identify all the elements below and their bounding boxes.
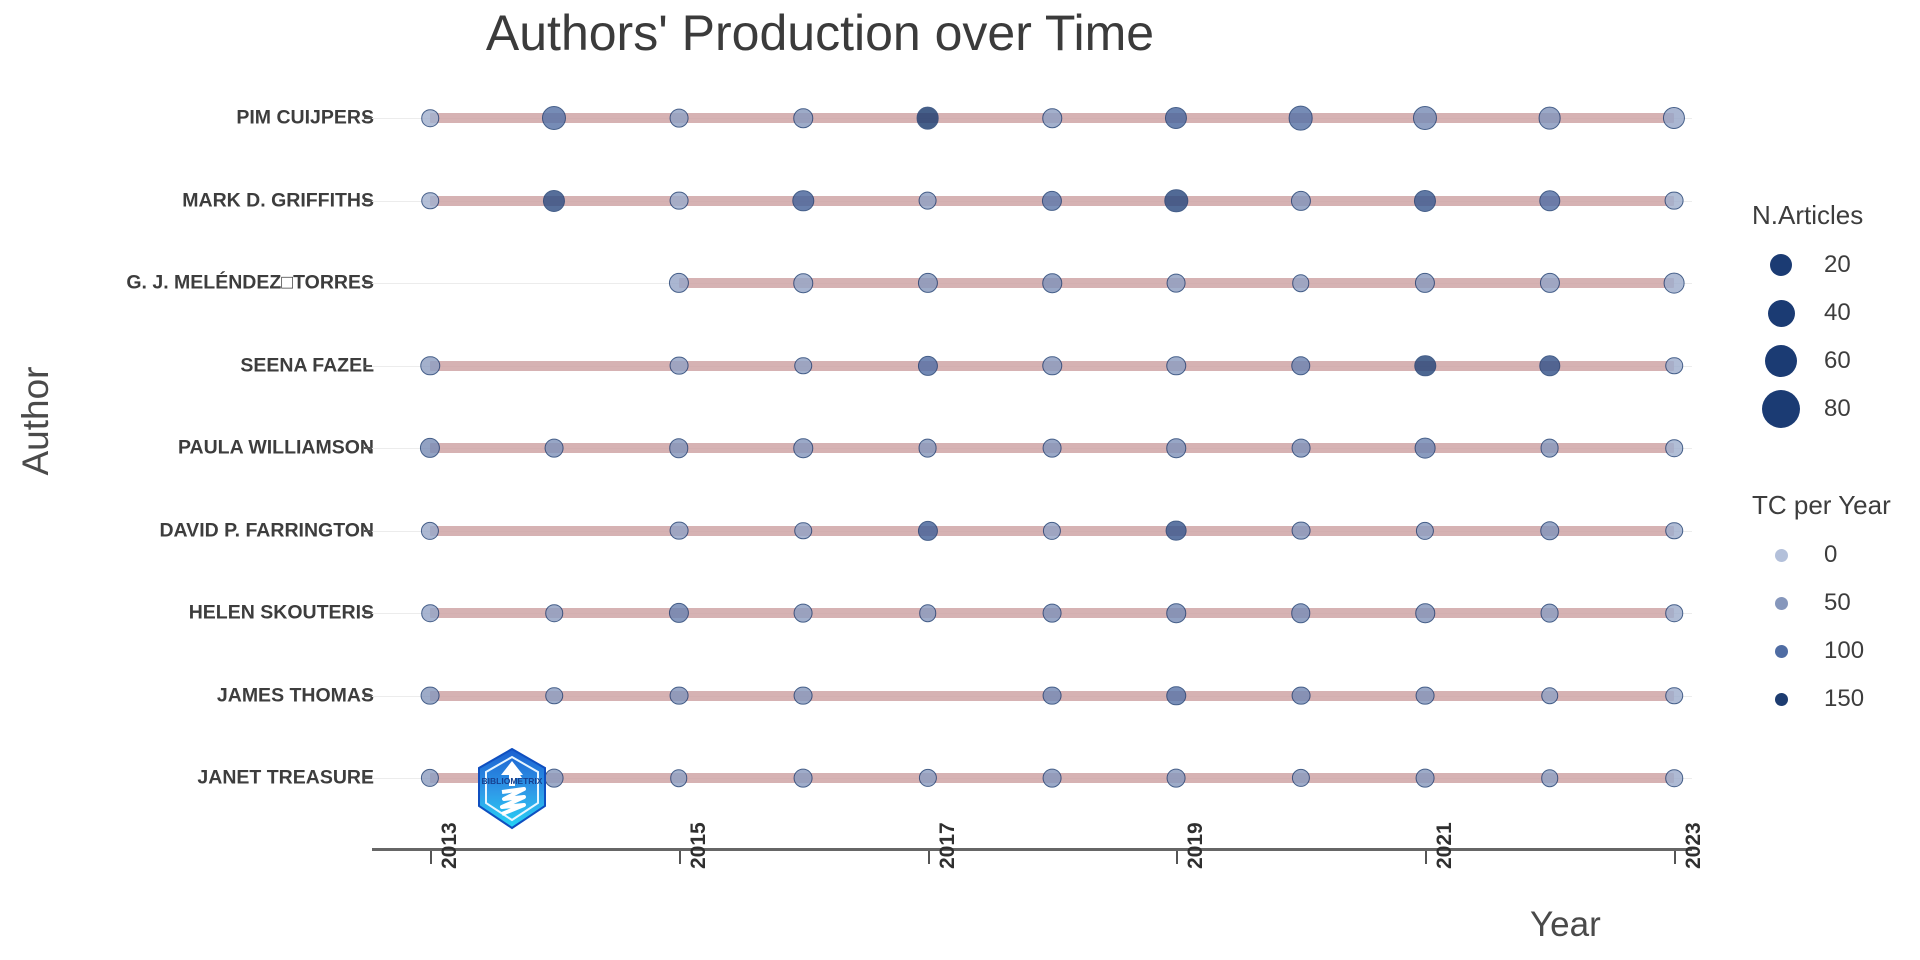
data-point[interactable] <box>1167 274 1186 293</box>
data-point[interactable] <box>1291 686 1310 705</box>
data-point[interactable] <box>1665 191 1684 210</box>
y-axis-tick-label: JAMES THOMAS <box>217 684 374 707</box>
legend-entries: 20406080 <box>1752 241 1863 433</box>
data-point[interactable] <box>1167 603 1187 623</box>
data-point[interactable] <box>669 356 688 375</box>
data-point[interactable] <box>1292 769 1310 787</box>
data-point[interactable] <box>1291 356 1311 376</box>
legend-label: 100 <box>1824 637 1864 665</box>
data-point[interactable] <box>421 109 439 127</box>
y-axis-tick-label: HELEN SKOUTERIS <box>189 602 374 625</box>
data-point[interactable] <box>1167 356 1187 376</box>
data-point[interactable] <box>1665 357 1683 375</box>
data-point[interactable] <box>793 273 813 293</box>
y-axis-tick-mark <box>364 200 372 202</box>
legend-label: 60 <box>1824 347 1851 375</box>
data-point[interactable] <box>669 273 689 293</box>
data-point[interactable] <box>421 521 439 539</box>
data-point[interactable] <box>1288 106 1313 131</box>
x-axis-tick-mark <box>430 851 432 864</box>
y-axis-tick-mark <box>364 447 372 449</box>
data-point[interactable] <box>1540 521 1560 541</box>
data-point[interactable] <box>1167 438 1187 458</box>
data-point[interactable] <box>919 769 937 787</box>
legend-dot-icon <box>1762 390 1800 428</box>
data-point[interactable] <box>1665 604 1683 622</box>
chart-root: Authors' Production over Time Author Yea… <box>0 0 1920 960</box>
legend-row[interactable]: 60 <box>1752 337 1863 385</box>
x-axis-tick-label: 2017 <box>936 822 960 869</box>
data-point[interactable] <box>1042 190 1062 210</box>
legend-swatch <box>1752 390 1810 428</box>
x-axis-tick-label: 2023 <box>1682 822 1706 869</box>
data-point[interactable] <box>669 438 689 458</box>
y-axis-tick-mark <box>364 530 372 532</box>
data-point[interactable] <box>794 357 812 375</box>
x-axis-tick-mark <box>1425 851 1427 864</box>
data-point[interactable] <box>1291 521 1310 540</box>
y-axis-tick-label: G. J. MELÉNDEZ□TORRES <box>126 272 374 295</box>
data-point[interactable] <box>1167 686 1187 706</box>
x-axis-tick-label: 2015 <box>687 822 711 869</box>
legend-row[interactable]: 150 <box>1752 675 1891 723</box>
y-axis-tick-mark <box>364 695 372 697</box>
page-title: Authors' Production over Time <box>0 4 1640 62</box>
data-point[interactable] <box>792 190 813 211</box>
data-point[interactable] <box>1664 273 1685 294</box>
data-point[interactable] <box>1541 769 1559 787</box>
legend-swatch <box>1752 254 1810 276</box>
plot-area <box>372 86 1692 826</box>
data-point[interactable] <box>1665 769 1683 787</box>
legend-dot-icon <box>1770 254 1792 276</box>
data-point[interactable] <box>543 189 565 211</box>
legend-label: 20 <box>1824 251 1851 279</box>
y-axis-title: Author <box>15 341 57 501</box>
legend-row[interactable]: 50 <box>1752 579 1891 627</box>
data-point[interactable] <box>1166 520 1187 541</box>
y-axis-tick-label: PIM CUIJPERS <box>236 107 374 130</box>
data-point[interactable] <box>421 604 439 622</box>
legend-row[interactable]: 40 <box>1752 289 1863 337</box>
data-point[interactable] <box>794 604 813 623</box>
data-point[interactable] <box>669 109 688 128</box>
data-point[interactable] <box>1415 438 1436 459</box>
legend-swatch <box>1752 549 1810 562</box>
x-axis-tick-mark <box>928 851 930 864</box>
data-point[interactable] <box>918 355 938 375</box>
data-point[interactable] <box>1413 106 1437 130</box>
legend-swatch <box>1752 300 1810 327</box>
data-point[interactable] <box>546 687 564 705</box>
data-point[interactable] <box>1415 603 1435 623</box>
legend-title: N.Articles <box>1752 200 1863 231</box>
legend-label: 150 <box>1824 685 1864 713</box>
data-point[interactable] <box>421 769 439 787</box>
data-point[interactable] <box>546 604 564 622</box>
data-point[interactable] <box>1165 189 1188 212</box>
data-point[interactable] <box>1042 356 1062 376</box>
data-point[interactable] <box>1539 355 1560 376</box>
data-point[interactable] <box>1291 603 1311 623</box>
y-axis-tick-label: SEENA FAZEL <box>240 354 374 377</box>
legend-label: 80 <box>1824 395 1851 423</box>
data-point[interactable] <box>1165 107 1187 129</box>
legend-dot-icon <box>1775 597 1788 610</box>
data-point[interactable] <box>542 106 566 130</box>
data-point[interactable] <box>1291 439 1310 458</box>
data-point[interactable] <box>1414 189 1436 211</box>
data-point[interactable] <box>1415 273 1435 293</box>
x-axis-tick-mark <box>1674 851 1676 864</box>
legend-swatch <box>1752 597 1810 610</box>
legend-dot-icon <box>1775 645 1788 658</box>
data-point[interactable] <box>669 603 689 623</box>
data-point[interactable] <box>545 439 564 458</box>
data-point[interactable] <box>916 107 939 130</box>
x-axis-tick-label: 2021 <box>1433 822 1457 869</box>
y-axis-tick-label: DAVID P. FARRINGTON <box>159 519 374 542</box>
data-point[interactable] <box>1043 686 1062 705</box>
data-point[interactable] <box>421 686 440 705</box>
data-point[interactable] <box>669 686 688 705</box>
data-point[interactable] <box>1540 273 1560 293</box>
x-axis-tick-mark <box>679 851 681 864</box>
x-axis-tick-label: 2013 <box>438 822 462 869</box>
data-point[interactable] <box>1167 769 1186 788</box>
legend-dot-icon <box>1775 549 1788 562</box>
data-point[interactable] <box>1539 190 1560 211</box>
legend-dot-icon <box>1775 693 1788 706</box>
legend-row[interactable]: 0 <box>1752 531 1891 579</box>
legend-swatch <box>1752 645 1810 658</box>
x-axis-line <box>372 848 1692 851</box>
data-point[interactable] <box>1291 190 1311 210</box>
data-point[interactable] <box>1416 686 1435 705</box>
data-point[interactable] <box>670 769 688 787</box>
data-point[interactable] <box>918 520 938 540</box>
legend-label: 50 <box>1824 589 1851 617</box>
data-point[interactable] <box>1414 355 1435 376</box>
data-point[interactable] <box>1540 439 1559 458</box>
y-axis-tick-mark <box>364 282 372 284</box>
data-point[interactable] <box>1538 107 1561 130</box>
legend-dot-icon <box>1768 300 1795 327</box>
bibliometrix-logo: BIBLIOMETRIX <box>476 748 548 830</box>
data-point[interactable] <box>1042 273 1062 293</box>
y-axis-tick-label: MARK D. GRIFFITHS <box>182 189 374 212</box>
data-point[interactable] <box>918 273 938 293</box>
legend-label: 0 <box>1824 541 1837 569</box>
data-point[interactable] <box>420 438 440 458</box>
y-axis-tick-mark <box>364 117 372 119</box>
data-point[interactable] <box>1663 107 1685 129</box>
data-point[interactable] <box>1043 439 1062 458</box>
y-axis-tick-label: JANET TREASURE <box>197 767 374 790</box>
data-point[interactable] <box>1043 521 1061 539</box>
data-point[interactable] <box>919 604 937 622</box>
data-point[interactable] <box>420 356 440 376</box>
data-point[interactable] <box>1540 604 1559 623</box>
svg-text:BIBLIOMETRIX: BIBLIOMETRIX <box>482 776 543 786</box>
data-point[interactable] <box>794 522 812 540</box>
data-point[interactable] <box>1416 769 1435 788</box>
x-axis-tick-mark <box>1176 851 1178 864</box>
data-point[interactable] <box>1541 687 1559 705</box>
data-point[interactable] <box>669 521 688 540</box>
legend-label: 40 <box>1824 299 1851 327</box>
y-axis-tick-mark <box>364 365 372 367</box>
legend-dot-icon <box>1765 345 1797 377</box>
data-point[interactable] <box>1665 522 1683 540</box>
data-point[interactable] <box>1043 604 1062 623</box>
y-axis-tick-mark <box>364 777 372 779</box>
data-point[interactable] <box>1665 687 1683 705</box>
legend-swatch <box>1752 693 1810 706</box>
legend-n-articles: N.Articles 20406080 <box>1752 200 1863 433</box>
x-axis-title: Year <box>1530 905 1601 945</box>
data-point[interactable] <box>421 192 439 210</box>
data-point[interactable] <box>794 686 813 705</box>
data-point[interactable] <box>793 108 813 128</box>
y-axis-tick-label: PAULA WILLIAMSON <box>178 437 374 460</box>
data-point[interactable] <box>794 769 813 788</box>
data-point[interactable] <box>1042 108 1062 128</box>
data-point[interactable] <box>793 438 813 458</box>
y-axis-tick-mark <box>364 612 372 614</box>
data-point[interactable] <box>1043 769 1062 788</box>
data-point[interactable] <box>669 191 688 210</box>
data-point[interactable] <box>918 439 937 458</box>
data-point[interactable] <box>1665 439 1683 457</box>
legend-row[interactable]: 80 <box>1752 385 1863 433</box>
legend-row[interactable]: 20 <box>1752 241 1863 289</box>
legend-entries: 050100150 <box>1752 531 1891 723</box>
legend-row[interactable]: 100 <box>1752 627 1891 675</box>
data-point[interactable] <box>1416 521 1434 539</box>
legend-tc-per-year: TC per Year 050100150 <box>1752 490 1891 723</box>
legend-swatch <box>1752 345 1810 377</box>
legend-title: TC per Year <box>1752 490 1891 521</box>
x-axis-tick-label: 2019 <box>1184 822 1208 869</box>
data-point[interactable] <box>918 191 937 210</box>
data-point[interactable] <box>1292 274 1310 292</box>
